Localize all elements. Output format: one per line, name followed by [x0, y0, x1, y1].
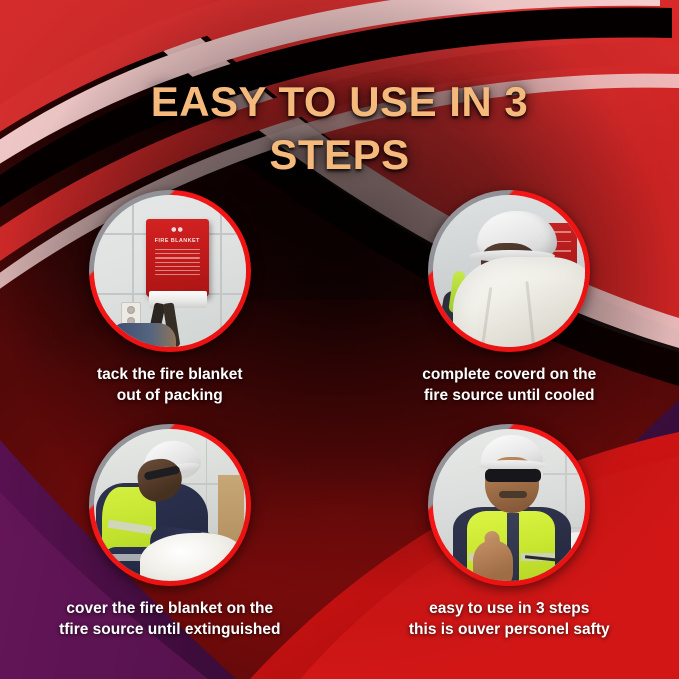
step-3-caption: cover the fire blanket on the tfire sour… [59, 599, 280, 640]
steps-grid: FIRE BLANKET tack the fire blanket out o… [0, 190, 679, 640]
fire-blanket-logo-icon [169, 225, 185, 234]
page-title: EASY TO USE IN 3 STEPS [0, 76, 679, 182]
sunglasses-icon [485, 469, 541, 482]
fire-blanket-cloth [140, 533, 244, 581]
fire-blanket-cloth [453, 257, 585, 347]
step-4-caption: easy to use in 3 steps this is ouver per… [409, 599, 610, 640]
step-2-photo-covering-source [433, 195, 585, 347]
step-2-photo-ring [428, 190, 590, 352]
step-3-photo-ring [89, 424, 251, 586]
product-infographic-poster: EASY TO USE IN 3 STEPS FIRE BLANKET [0, 0, 679, 679]
page-title-text: EASY TO USE IN 3 STEPS [151, 78, 529, 178]
fire-blanket-pouch-label: FIRE BLANKET [146, 238, 209, 244]
step-item-1: FIRE BLANKET tack the fire blanket out o… [0, 190, 340, 406]
step-1-photo-fire-blanket-pouch: FIRE BLANKET [94, 195, 246, 347]
step-1-photo-ring: FIRE BLANKET [89, 190, 251, 352]
step-item-4: easy to use in 3 steps this is ouver per… [340, 424, 679, 640]
step-2-caption: complete coverd on the fire source until… [422, 365, 596, 406]
step-item-2: complete coverd on the fire source until… [340, 190, 679, 406]
step-4-photo-ring [428, 424, 590, 586]
fire-blanket-pouch: FIRE BLANKET [146, 219, 209, 297]
step-4-photo-thumbs-up [433, 429, 585, 581]
step-3-photo-applying-blanket [94, 429, 246, 581]
step-1-caption: tack the fire blanket out of packing [97, 365, 243, 406]
step-item-3: cover the fire blanket on the tfire sour… [0, 424, 340, 640]
